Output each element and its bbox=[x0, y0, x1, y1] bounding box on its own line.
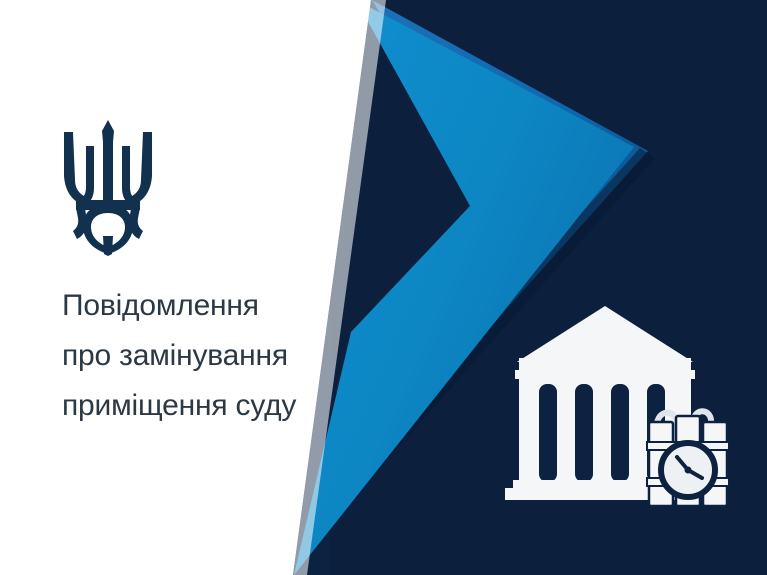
tryzub-svg bbox=[56, 118, 160, 256]
courthouse-column-gap bbox=[575, 384, 593, 482]
clock-center-pin bbox=[685, 467, 692, 474]
courthouse-column-gap bbox=[611, 384, 629, 482]
courthouse-entablature bbox=[519, 358, 691, 372]
courthouse-column-gap bbox=[539, 384, 557, 482]
courthouse-bomb-svg bbox=[497, 300, 747, 515]
tryzub-emblem-icon bbox=[56, 118, 160, 256]
courthouse-pediment-icon bbox=[517, 306, 693, 362]
courthouse-bomb-icon bbox=[497, 300, 747, 515]
announcement-banner: Повідомлення про замінування приміщення … bbox=[0, 0, 767, 575]
